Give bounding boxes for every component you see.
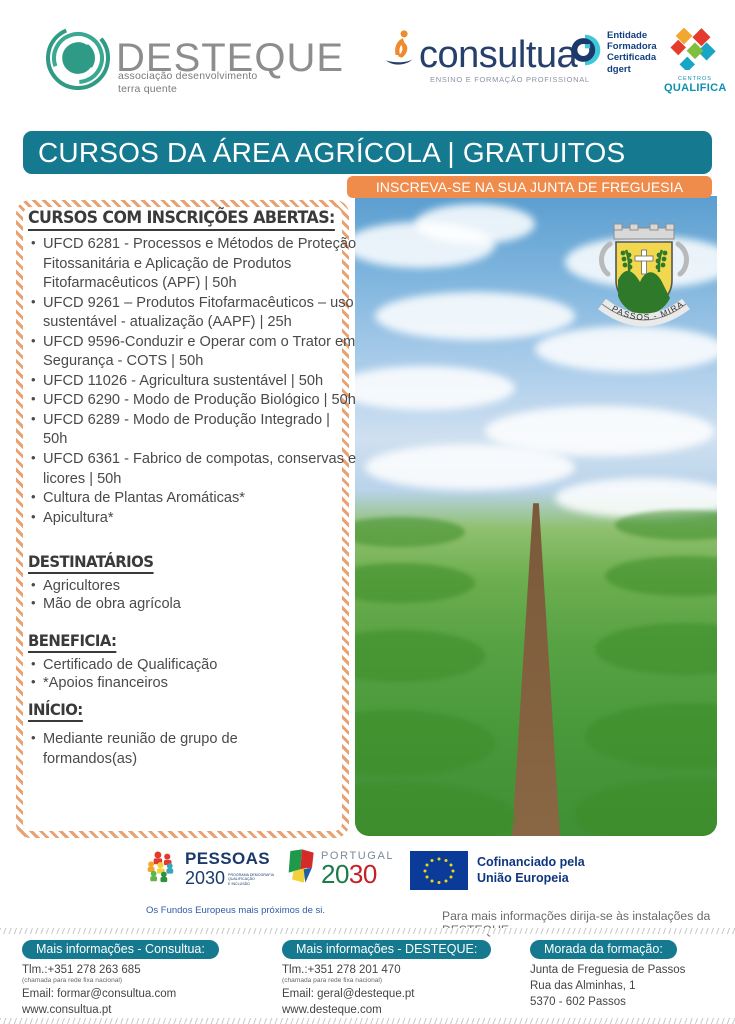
pessoas2030-text: PESSOAS 2030 PROGRAMA DEMOGRAFIA QUALIFI… [185, 850, 274, 887]
consultua-logo: consultua ® ENSINO E FORMAÇÃO PROFISSION… [386, 28, 590, 84]
address-line1: Junta de Freguesia de Passos [530, 964, 685, 976]
desteque-tagline-line1: associação desenvolvimento [118, 70, 257, 83]
list-item: Mediante reunião de grupo de formandos(a… [28, 730, 243, 769]
contact-email[interactable]: Email: geral@desteque.pt [282, 988, 491, 1000]
qualifica-diamond-icon [667, 57, 723, 74]
pessoas2030-fine1: PROGRAMA DEMOGRAFIA [228, 873, 274, 877]
audience-title: DESTINATÁRIOS [28, 552, 153, 574]
desteque-tagline-line2: terra quente [118, 83, 257, 96]
contact-block-address: Morada da formação: Junta de Freguesia d… [530, 940, 685, 1008]
portugal2030-year-right: 30 [349, 859, 377, 889]
list-item: UFCD 11026 - Agricultura sustentável | 5… [28, 372, 358, 392]
contact-pill: Mais informações - Consultua: [22, 940, 219, 959]
crop-rows [355, 503, 717, 836]
consultua-wordmark: consultua [419, 37, 577, 73]
list-item: *Apoios financeiros [28, 675, 358, 693]
contact-block-consultua: Mais informações - Consultua: Tlm.:+351 … [22, 940, 219, 1016]
list-item: UFCD 9596-Conduzir e Operar com o Trator… [28, 333, 358, 372]
contact-website[interactable]: www.desteque.com [282, 1004, 491, 1016]
pessoas2030-logo: PESSOAS 2030 PROGRAMA DEMOGRAFIA QUALIFI… [146, 849, 274, 888]
list-item: UFCD 6281 - Processos e Métodos de Prote… [28, 235, 358, 294]
contact-phone: Tlm.:+351 278 263 685 [22, 964, 219, 976]
portugal2030-logo: PORTUGAL 2030 [287, 847, 394, 890]
portugal2030-year-left: 20 [321, 859, 349, 889]
brasao-passos-mirandela: PASSOS - MIRANDELA [592, 222, 696, 334]
contact-phone-note: (chamada para rede fixa nacional) [282, 977, 491, 984]
poster-root: DESTEQUE associação desenvolvimento terr… [0, 0, 735, 1024]
eu-line1: Cofinanciado pela [477, 855, 585, 869]
eu-cofinancing-logo: Cofinanciado pela União Europeia [410, 851, 585, 890]
benefits-title: BENEFICIA: [28, 631, 116, 653]
headline-banner: CURSOS DA ÁREA AGRÍCOLA | GRATUITOS [23, 131, 712, 174]
dgert-line3: Certificada [607, 52, 656, 63]
list-item: Certificado de Qualificação [28, 657, 358, 675]
qualifica-badge: CENTROS QUALIFICA [664, 28, 726, 94]
contact-pill: Mais informações - DESTEQUE: [282, 940, 491, 959]
desteque-logo: DESTEQUE associação desenvolvimento terr… [46, 26, 344, 90]
content-column: CURSOS COM INSCRIÇÕES ABERTAS: UFCD 6281… [28, 208, 358, 769]
dgert-text: Entidade Formadora Certificada dgert [607, 30, 657, 75]
contact-bar: Mais informações - Consultua: Tlm.:+351 … [0, 928, 735, 1024]
list-item: Apicultura* [28, 509, 358, 529]
dgert-seal-icon [568, 33, 602, 72]
soil-furrow [512, 503, 560, 836]
list-item: UFCD 6361 - Fabrico de compotas, conserv… [28, 450, 358, 489]
list-item: Cultura de Plantas Aromáticas* [28, 489, 358, 509]
portugal2030-flag-icon [287, 847, 317, 890]
qualifica-label-big: QUALIFICA [664, 82, 726, 94]
portugal2030-year: 2030 [321, 862, 394, 887]
list-item: Agricultores [28, 578, 358, 596]
pessoas2030-line1: PESSOAS [185, 849, 270, 868]
dgert-line1: Entidade [607, 30, 647, 41]
dgert-line2: Formadora [607, 41, 657, 52]
audience-list: Agricultores Mão de obra agrícola [28, 578, 358, 614]
consultua-tagline: ENSINO E FORMAÇÃO PROFISSIONAL [430, 75, 590, 84]
subbanner: INSCREVA-SE NA SUA JUNTA DE FREGUESIA [347, 176, 712, 198]
portugal2030-text: PORTUGAL 2030 [321, 851, 394, 887]
list-item: UFCD 6289 - Modo de Produção Integrado |… [28, 411, 358, 450]
pessoas2030-fine3: E INCLUSÃO [228, 882, 250, 886]
start-list: Mediante reunião de grupo de formandos(a… [28, 730, 358, 769]
divider-top [0, 928, 735, 934]
dgert-line4: dgert [607, 64, 631, 75]
contact-pill: Morada da formação: [530, 940, 677, 959]
list-item: UFCD 6290 - Modo de Produção Biológico |… [28, 391, 358, 411]
headline-text: CURSOS DA ÁREA AGRÍCOLA | GRATUITOS [38, 137, 625, 169]
contact-block-desteque: Mais informações - DESTEQUE: Tlm.:+351 2… [282, 940, 491, 1016]
start-title: INÍCIO: [28, 700, 83, 722]
desteque-tagline: associação desenvolvimento terra quente [118, 70, 257, 96]
eu-line2: União Europeia [477, 871, 569, 885]
dgert-badge: Entidade Formadora Certificada dgert [568, 30, 657, 75]
contact-phone-note: (chamada para rede fixa nacional) [22, 977, 219, 984]
pessoas2030-fine2: QUALIFICAÇÃO [228, 877, 255, 881]
address-line2: Rua das Alminhas, 1 [530, 980, 685, 992]
desteque-swirl-icon [46, 26, 110, 90]
eu-flag-icon [410, 851, 468, 890]
benefits-list: Certificado de Qualificação *Apoios fina… [28, 657, 358, 693]
courses-list: UFCD 6281 - Processos e Métodos de Prote… [28, 235, 358, 528]
logo-bar: DESTEQUE associação desenvolvimento terr… [0, 0, 735, 112]
funding-note: Os Fundos Europeus mais próximos de si. [146, 905, 325, 916]
divider-bottom [0, 1018, 735, 1024]
contact-phone: Tlm.:+351 278 201 470 [282, 964, 491, 976]
contact-website[interactable]: www.consultua.pt [22, 1004, 219, 1016]
pessoas2030-line2: 2030 [185, 869, 225, 887]
funding-logos: PESSOAS 2030 PROGRAMA DEMOGRAFIA QUALIFI… [0, 845, 735, 920]
courses-title: CURSOS COM INSCRIÇÕES ABERTAS: [28, 208, 335, 231]
list-item: UFCD 9261 – Produtos Fitofarmacêuticos –… [28, 294, 358, 333]
eu-text: Cofinanciado pela União Europeia [477, 855, 585, 886]
subbanner-text: INSCREVA-SE NA SUA JUNTA DE FREGUESIA [376, 179, 683, 195]
pessoas2030-fine: PROGRAMA DEMOGRAFIA QUALIFICAÇÃO E INCLU… [228, 873, 274, 886]
list-item: Mão de obra agrícola [28, 596, 358, 614]
address-line3: 5370 - 602 Passos [530, 996, 685, 1008]
pessoas2030-people-icon [146, 849, 180, 888]
consultua-figure-icon [386, 28, 416, 73]
contact-email[interactable]: Email: formar@consultua.com [22, 988, 219, 1000]
